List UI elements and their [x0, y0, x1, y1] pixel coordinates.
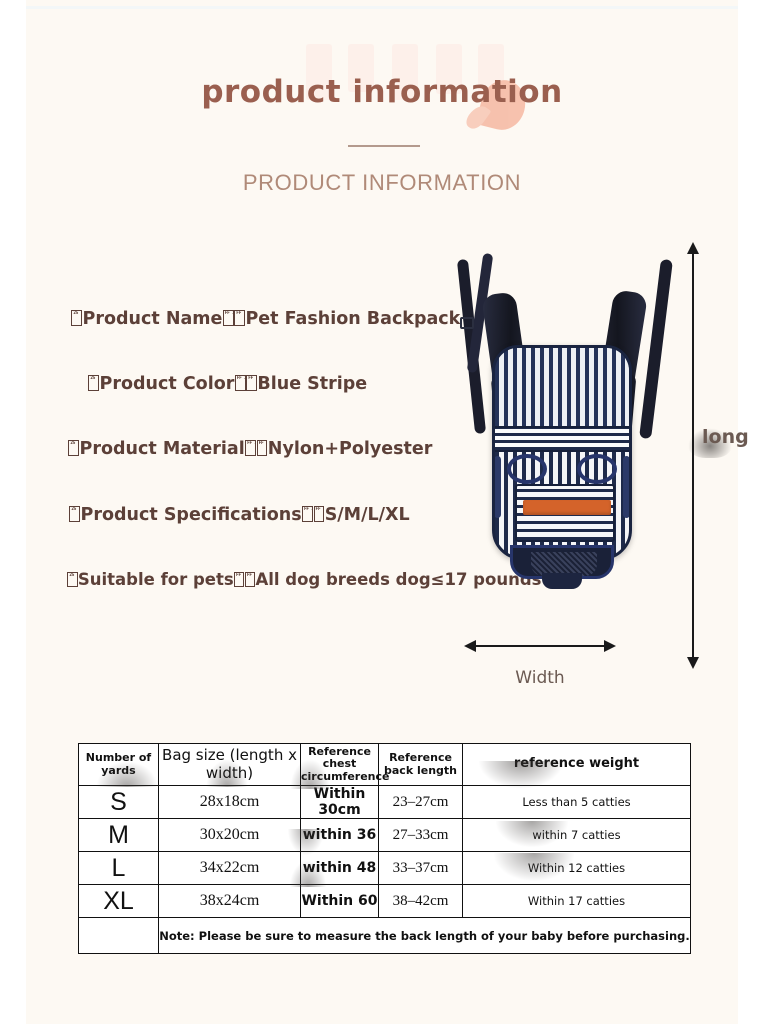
side-zipper-left	[494, 456, 501, 518]
cell-back-length: 27–33cm	[379, 819, 463, 852]
table-body: S 28x18cm Within 30cm 23–27cm Less than …	[79, 786, 691, 954]
spec-line-product-color: 25 CFProduct ColorFF 1AFF 1ABlue Stripe	[88, 375, 367, 394]
tofu-glyph-icon: FF 1A	[223, 310, 234, 326]
page-header: product information PRODUCT INFORMATION	[26, 40, 738, 220]
cell-back-length: 23–27cm	[379, 786, 463, 819]
tofu-glyph-icon: FF 1A	[246, 375, 257, 391]
spec-label-product-name: Product Name	[83, 309, 223, 329]
page-subtitle: PRODUCT INFORMATION	[26, 170, 738, 196]
spec-line-product-name: 25 CFProduct NameFF 1AFF 1APet Fashion B…	[71, 310, 460, 329]
width-dimension-label: Width	[430, 668, 650, 688]
cell-bag-size: 30x20cm	[159, 819, 301, 852]
page-title: product information	[26, 74, 738, 110]
note-row-spacer	[79, 918, 159, 954]
cell-weight: Within 12 catties	[463, 852, 691, 885]
backpack-foot	[542, 573, 582, 589]
cell-weight: Less than 5 catties	[463, 786, 691, 819]
table-row: S 28x18cm Within 30cm 23–27cm Less than …	[79, 786, 691, 819]
tofu-glyph-icon: FF 1A	[234, 572, 244, 587]
cell-bag-size: 28x18cm	[159, 786, 301, 819]
tofu-glyph-icon: FF 1A	[245, 440, 256, 456]
cell-back-length: 33–37cm	[379, 852, 463, 885]
front-pocket	[515, 484, 615, 542]
product-photo-area: long Width	[430, 240, 730, 700]
cell-chest: Within 60	[301, 885, 379, 918]
tofu-glyph-icon: 25 CF	[68, 440, 79, 456]
backpack-cinch-band	[495, 426, 629, 452]
spec-value-product-name: Pet Fashion Backpack	[245, 309, 460, 329]
spec-label-product-color: Product Color	[100, 374, 235, 394]
column-header-number-of-yards: Number of yards	[79, 744, 159, 786]
cell-size: XL	[79, 885, 159, 918]
tofu-glyph-icon: FF 1A	[245, 572, 255, 587]
shoulder-strap-right-thin	[639, 259, 673, 439]
size-chart-container: Number of yards Bag size (length x width…	[78, 743, 690, 954]
title-divider	[348, 145, 420, 147]
cell-chest: within 48	[301, 852, 379, 885]
cell-size: S	[79, 786, 159, 819]
leg-opening-left	[507, 454, 547, 484]
product-information-page: product information PRODUCT INFORMATION …	[0, 0, 768, 1024]
cell-chest: within 36	[301, 819, 379, 852]
top-edge-line	[26, 6, 738, 9]
cell-weight: Within 17 catties	[463, 885, 691, 918]
table-header: Number of yards Bag size (length x width…	[79, 744, 691, 786]
spec-label-product-specifications: Product Specifications	[81, 505, 302, 525]
tofu-glyph-icon: FF 1A	[314, 506, 325, 522]
cell-bag-size: 34x22cm	[159, 852, 301, 885]
width-dimension-arrow	[475, 645, 605, 647]
tofu-glyph-icon: 25 CF	[88, 375, 99, 391]
spec-value-product-specifications: S/M/L/XL	[325, 505, 410, 525]
table-note: Note: Please be sure to measure the back…	[159, 918, 691, 954]
size-chart-table: Number of yards Bag size (length x width…	[78, 743, 691, 954]
cell-weight: within 7 catties	[463, 819, 691, 852]
backpack-body	[492, 345, 632, 560]
spec-value-product-color: Blue Stripe	[257, 374, 367, 394]
tofu-glyph-icon: FF 1A	[235, 375, 246, 391]
length-dimension-arrow	[692, 253, 694, 658]
tofu-glyph-icon: FF 1A	[257, 440, 268, 456]
spec-value-product-material: Nylon+Polyester	[268, 439, 433, 459]
table-note-row: Note: Please be sure to measure the back…	[79, 918, 691, 954]
cell-size: M	[79, 819, 159, 852]
spec-label-product-material: Product Material	[80, 439, 245, 459]
cell-chest: Within 30cm	[301, 786, 379, 819]
table-row: M 30x20cm within 36 27–33cm within 7 cat…	[79, 819, 691, 852]
column-header-reference-weight: reference weight	[463, 744, 691, 786]
tofu-glyph-icon: FF 1A	[234, 310, 245, 326]
tofu-glyph-icon: FF 1A	[302, 506, 313, 522]
spec-label-suitable-for-pets: Suitable for pets	[78, 570, 234, 589]
tofu-glyph-icon: 25 CF	[69, 506, 80, 522]
pet-backpack-image	[448, 245, 678, 635]
spec-line-product-specifications: 25 CFProduct SpecificationsFF 1AFF 1AS/M…	[69, 506, 410, 525]
column-header-chest: Reference chest circumference	[301, 744, 379, 786]
column-header-back-length: Reference back length	[379, 744, 463, 786]
side-zipper-right	[623, 456, 630, 518]
table-header-row: Number of yards Bag size (length x width…	[79, 744, 691, 786]
strap-buckle-icon	[460, 317, 474, 329]
cell-bag-size: 38x24cm	[159, 885, 301, 918]
column-header-bag-size: Bag size (length x width)	[159, 744, 301, 786]
tofu-glyph-icon: 25 CF	[71, 310, 82, 326]
table-row: L 34x22cm within 48 33–37cm Within 12 ca…	[79, 852, 691, 885]
backpack-top-flap	[495, 348, 629, 426]
leg-opening-right	[577, 454, 617, 484]
cell-back-length: 38–42cm	[379, 885, 463, 918]
cell-size: L	[79, 852, 159, 885]
tofu-glyph-icon: 25 CF	[67, 572, 77, 587]
length-dimension-label: long	[702, 426, 749, 448]
orange-accent-band	[523, 500, 611, 515]
spec-line-product-material: 25 CFProduct MaterialFF 1AFF 1ANylon+Pol…	[68, 440, 432, 459]
table-row: XL 38x24cm Within 60 38–42cm Within 17 c…	[79, 885, 691, 918]
